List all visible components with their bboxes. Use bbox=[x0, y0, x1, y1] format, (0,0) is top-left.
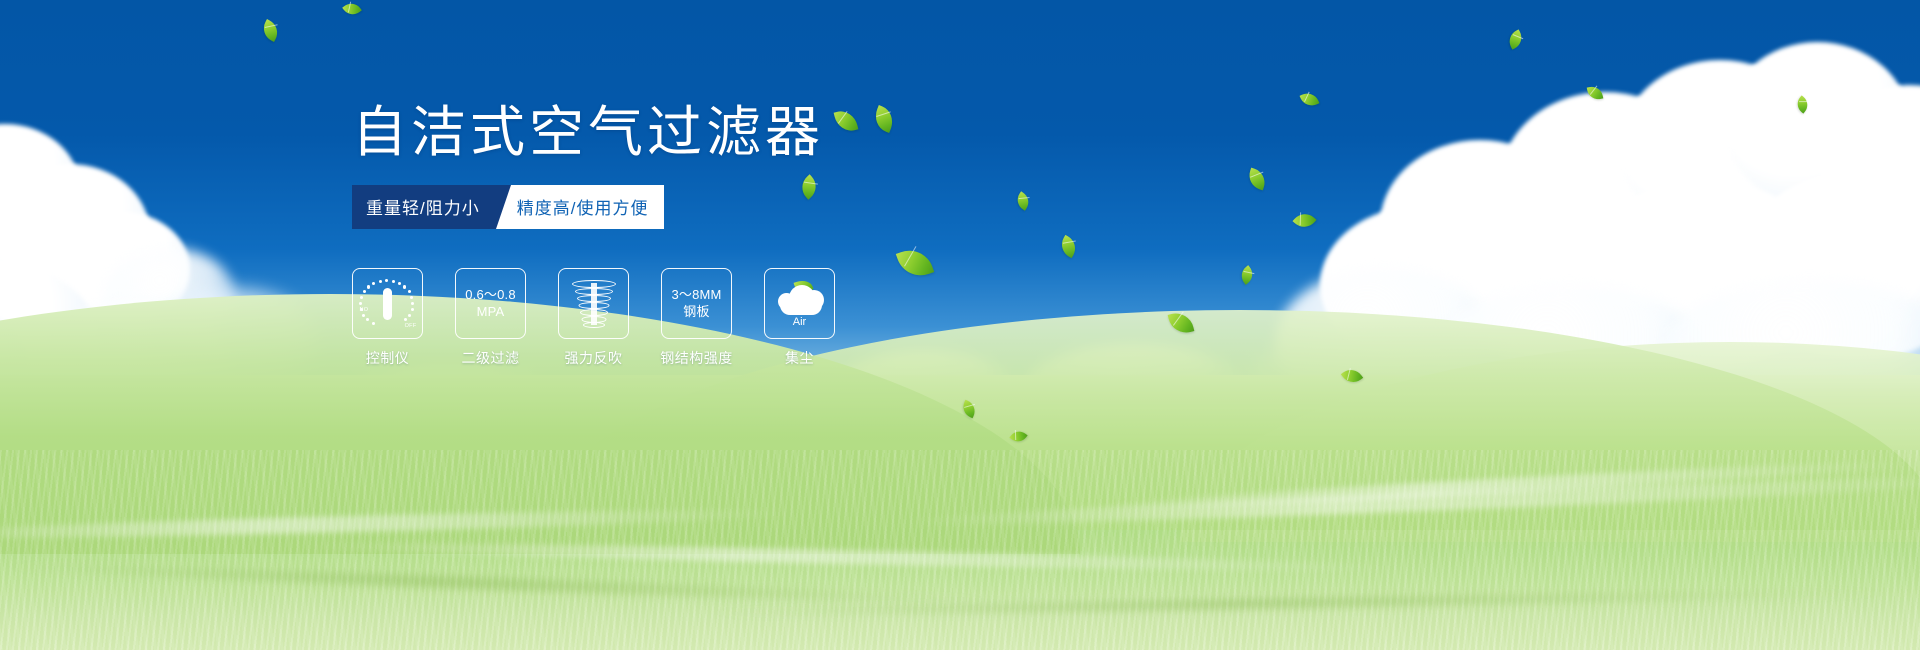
grass-shadow bbox=[0, 561, 1000, 608]
feature-icon-box: 3～8MM 钢板 bbox=[661, 268, 732, 339]
feature-icon-box: NO OFF bbox=[352, 268, 423, 339]
feature-label: 控制仪 bbox=[366, 348, 410, 368]
hero-banner: 自洁式空气过滤器 重量轻/阻力小 精度高/使用方便 bbox=[0, 0, 1920, 650]
page-title: 自洁式空气过滤器 bbox=[352, 102, 1132, 164]
pressure-value: 0.6～0.8 bbox=[465, 287, 516, 303]
feature-strong-backblow[interactable]: 强力反吹 bbox=[558, 268, 629, 368]
feature-label: 钢结构强度 bbox=[660, 348, 733, 368]
feature-label: 强力反吹 bbox=[565, 348, 623, 368]
gauge-off-label: OFF bbox=[405, 323, 417, 329]
filter-stack-icon bbox=[571, 279, 617, 329]
steel-thickness: 3～8MM bbox=[671, 287, 721, 303]
air-cloud-icon: Air bbox=[773, 282, 827, 326]
gauge-no-label: NO bbox=[360, 307, 369, 313]
feature-two-stage-filtration[interactable]: 0.6～0.8 MPA 二级过滤 bbox=[455, 268, 526, 368]
feature-label: 集尘 bbox=[785, 348, 814, 368]
steel-material: 钢板 bbox=[683, 304, 709, 320]
feature-icon-box: 0.6～0.8 MPA bbox=[455, 268, 526, 339]
feature-list: NO OFF 控制仪 0.6～0.8 MPA 二级过滤 bbox=[352, 268, 835, 368]
banner-content: 自洁式空气过滤器 重量轻/阻力小 精度高/使用方便 bbox=[352, 102, 1132, 229]
grass-field bbox=[0, 375, 1920, 650]
tagline-tabs: 重量轻/阻力小 精度高/使用方便 bbox=[352, 185, 670, 229]
gauge-icon: NO OFF bbox=[361, 279, 415, 329]
air-label: Air bbox=[773, 316, 827, 328]
feature-icon-box bbox=[558, 268, 629, 339]
feature-label: 二级过滤 bbox=[462, 348, 520, 368]
grass-shadow bbox=[700, 588, 1900, 619]
feature-steel-structure-strength[interactable]: 3～8MM 钢板 钢结构强度 bbox=[661, 268, 732, 368]
feature-control-instrument[interactable]: NO OFF 控制仪 bbox=[352, 268, 423, 368]
feature-icon-box: Air bbox=[764, 268, 835, 339]
feature-dust-collection[interactable]: Air 集尘 bbox=[764, 268, 835, 368]
tab-high-precision-easy-use[interactable]: 精度高/使用方便 bbox=[495, 185, 665, 229]
tab-lightweight-low-resistance[interactable]: 重量轻/阻力小 bbox=[352, 185, 496, 229]
pressure-unit: MPA bbox=[477, 304, 505, 320]
